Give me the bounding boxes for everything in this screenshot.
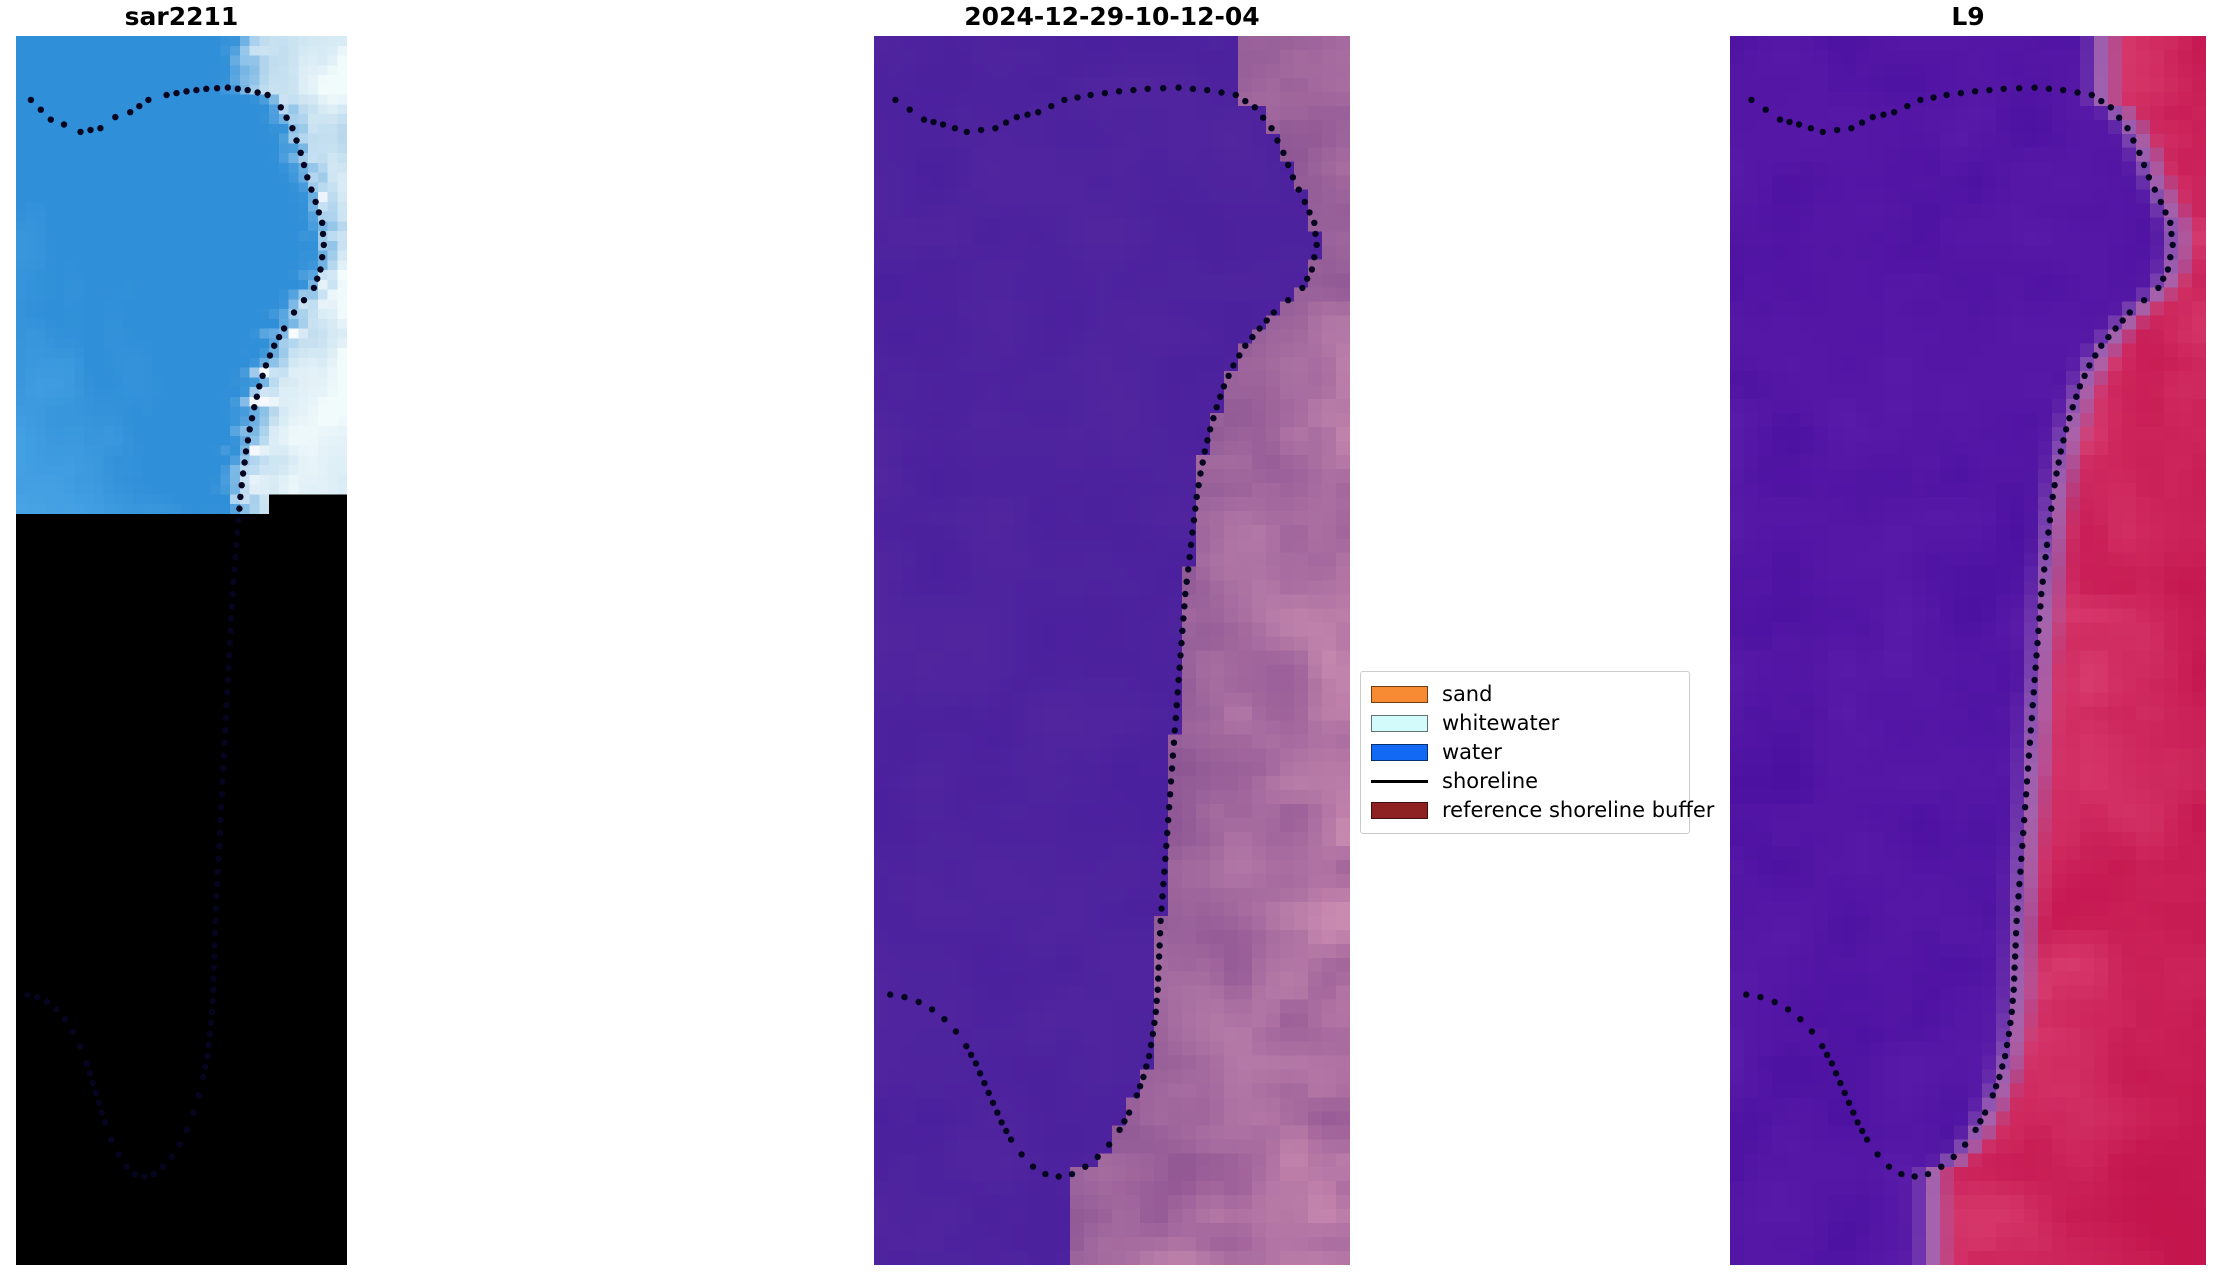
shoreline-overlay-sar2211: [16, 36, 347, 1265]
panel-rgb-2024-12-29: 2024-12-29-10-12-04: [874, 0, 1350, 1265]
panel-image-l9[interactable]: [1730, 36, 2206, 1265]
panel-title-l9: L9: [1730, 0, 2206, 34]
legend-label: whitewater: [1442, 713, 1559, 734]
legend-swatch-line-shoreline: [1371, 773, 1428, 790]
legend-item-whitewater: whitewater: [1371, 709, 1679, 738]
legend-swatch-water: [1371, 744, 1428, 761]
legend-label: reference shoreline buffer: [1442, 800, 1714, 821]
panel-title-sar2211: sar2211: [16, 0, 347, 34]
figure-canvas: sar2211 2024-12-29-10-12-04 L9 sandwhite…: [0, 0, 2219, 1283]
legend-item-water: water: [1371, 738, 1679, 767]
panel-sar2211: sar2211: [16, 0, 347, 1265]
shoreline-overlay-rgb: [874, 36, 1350, 1265]
legend-box: sandwhitewaterwatershorelinereference sh…: [1360, 671, 1690, 834]
legend-swatch-sand: [1371, 686, 1428, 703]
panel-title-rgb: 2024-12-29-10-12-04: [874, 0, 1350, 34]
legend-swatch-reference-shoreline-buffer: [1371, 802, 1428, 819]
legend-item-sand: sand: [1371, 680, 1679, 709]
legend-item-shoreline: shoreline: [1371, 767, 1679, 796]
shoreline-overlay-l9: [1730, 36, 2206, 1265]
legend-label: shoreline: [1442, 771, 1538, 792]
panel-image-rgb[interactable]: [874, 36, 1350, 1265]
legend-swatch-whitewater: [1371, 715, 1428, 732]
legend-item-reference-shoreline-buffer: reference shoreline buffer: [1371, 796, 1679, 825]
legend-label: water: [1442, 742, 1502, 763]
panel-l9: L9: [1730, 0, 2206, 1265]
panel-image-sar2211[interactable]: [16, 36, 347, 1265]
legend-label: sand: [1442, 684, 1492, 705]
